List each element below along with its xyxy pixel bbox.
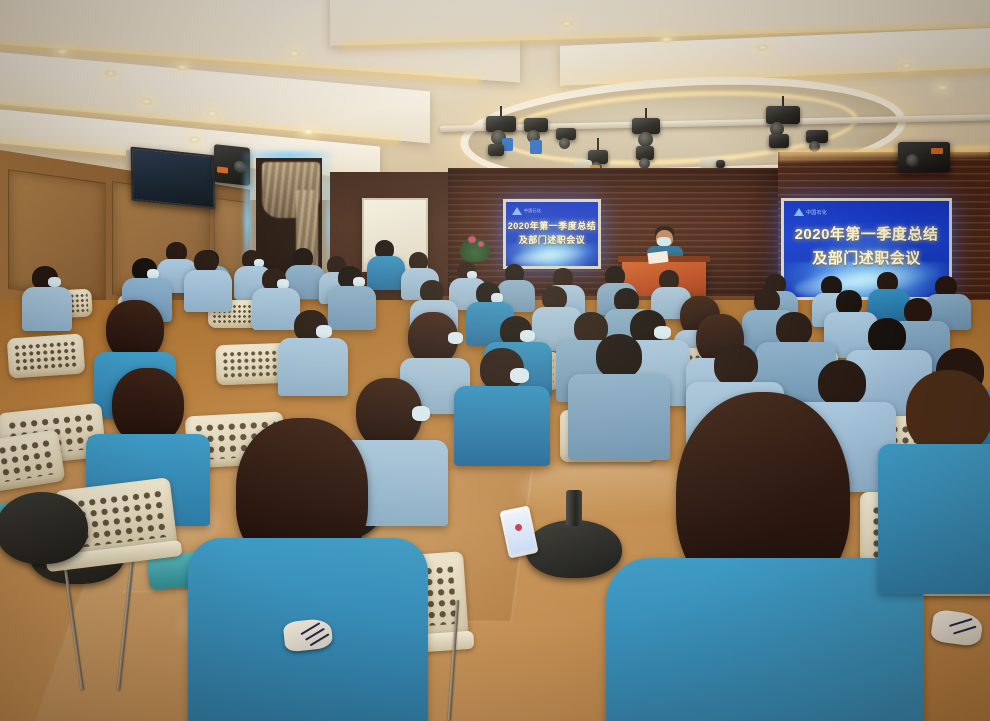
downlight-icon: [660, 36, 673, 43]
right-screen-title-line2: 及部门述职会议: [784, 247, 949, 268]
brand-mark-icon: [512, 207, 522, 215]
downlight-icon: [188, 136, 201, 143]
screen-logo-text: 中国石化: [806, 209, 827, 216]
flower-arrangement: [468, 236, 476, 243]
face-mask: [48, 277, 61, 287]
thermos-flask: [566, 490, 582, 526]
downlight-icon: [206, 110, 219, 117]
face-mask: [657, 237, 671, 246]
screen-logo-text: 中国石化: [524, 208, 541, 214]
face-mask: [654, 326, 671, 339]
brand-mark-icon: [794, 208, 804, 216]
downlight-icon: [560, 20, 573, 27]
tablet-arm-desk[interactable]: [0, 492, 88, 564]
face-mask: [412, 406, 430, 421]
face-mask: [316, 325, 332, 338]
flower-arrangement: [478, 241, 484, 247]
downlight-icon: [176, 64, 189, 71]
right-projection-screen[interactable]: 中国石化 2020年第一季度总结 及部门述职会议: [781, 198, 952, 300]
wall-mounted-monitor: [131, 147, 216, 210]
downlight-icon: [900, 62, 913, 69]
downlight-icon: [288, 50, 301, 57]
face-mask: [520, 330, 535, 342]
downlight-icon: [140, 98, 153, 105]
right-wall-speaker: [898, 142, 950, 172]
downlight-icon: [936, 84, 949, 91]
phone-screen: [502, 510, 536, 555]
face-mask: [448, 332, 463, 344]
downlight-icon: [302, 128, 315, 135]
screen-logo: 中国石化: [794, 208, 827, 216]
conference-hall-photo: 中国石化 2020年第一季度总结 及部门述职会议 中国石化 2020年第一季度总…: [0, 0, 990, 721]
chair-back: [7, 333, 86, 378]
right-screen-title-line1: 2020年第一季度总结: [784, 223, 949, 244]
downlight-icon: [56, 48, 69, 55]
left-screen-title-line1: 2020年第一季度总结: [506, 219, 598, 232]
screen-logo: 中国石化: [512, 207, 541, 215]
left-projection-screen[interactable]: 中国石化 2020年第一季度总结 及部门述职会议: [503, 199, 601, 269]
face-mask: [510, 368, 529, 383]
left-screen-title-line2: 及部门述职会议: [506, 233, 598, 246]
tablet-arm-desk[interactable]: [526, 520, 622, 578]
downlight-icon: [756, 44, 769, 51]
downlight-icon: [104, 70, 117, 77]
